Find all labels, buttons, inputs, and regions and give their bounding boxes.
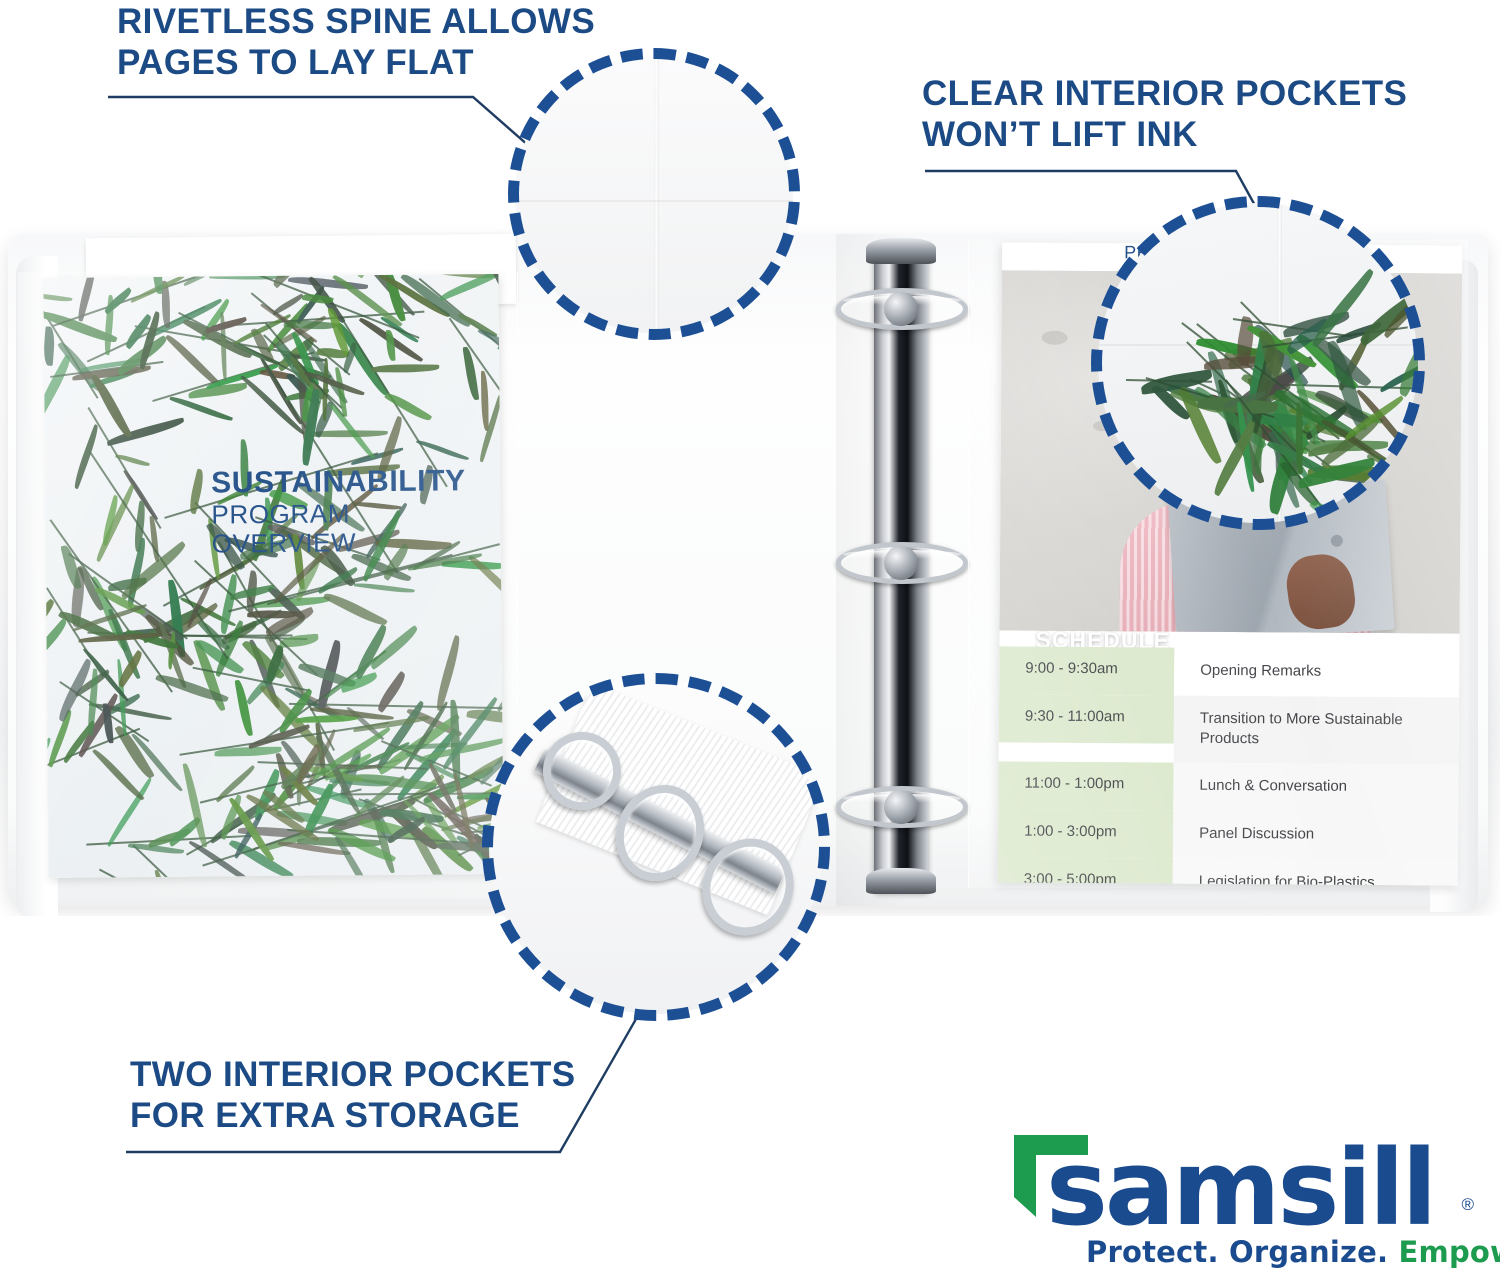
magnifier-dashed-ring	[508, 48, 800, 340]
logo-wordmark: samsill	[1046, 1127, 1434, 1249]
magnifier-dashed-ring	[1091, 196, 1425, 530]
product-feature-callout-image: SUSTAINABILITY PROGRAM OVERVIEW	[0, 0, 1500, 1274]
magnifier-clear-pocket	[1098, 203, 1418, 523]
samsill-logo: samsill ® Protect. Organize. Empower.	[1012, 1131, 1472, 1263]
logo-tagline-blue: Protect. Organize.	[1086, 1235, 1388, 1269]
logo-tagline: Protect. Organize. Empower.	[1086, 1235, 1500, 1269]
magnifier-dashed-ring	[482, 673, 830, 1021]
logo-tagline-green: Empower.	[1399, 1235, 1500, 1269]
registered-trademark-icon: ®	[1461, 1195, 1474, 1215]
magnifier-spine-flat	[515, 55, 793, 333]
magnifier-ring-mechanism	[489, 680, 823, 1014]
